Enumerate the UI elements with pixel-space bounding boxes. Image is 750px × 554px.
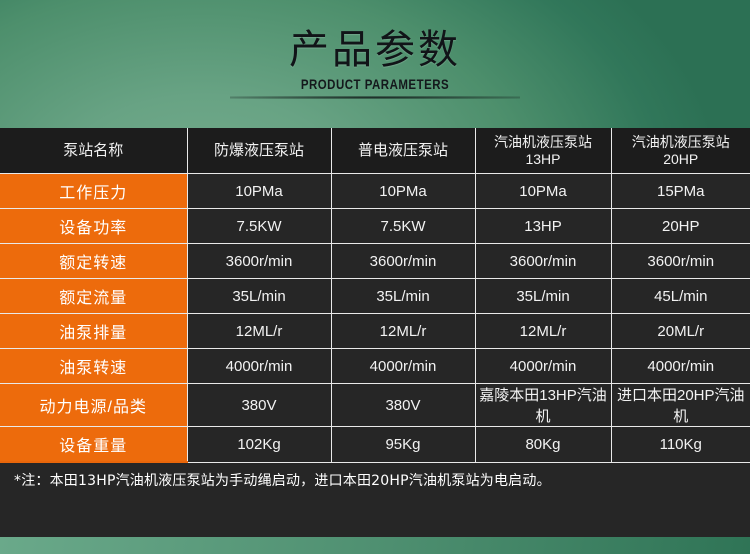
table-row: 设备重量 102Kg 95Kg 80Kg 110Kg [0,427,750,463]
cell-pump-speed-explosion-proof: 4000r/min [187,349,331,384]
cell-rated-flow-gasoline-20hp: 45L/min [611,279,750,314]
table-row: 油泵排量 12ML/r 12ML/r 12ML/r 20ML/r [0,314,750,349]
cell-equipment-weight-explosion-proof: 102Kg [187,427,331,463]
cell-power-source-gasoline-20hp: 进口本田20HP汽油机 [611,384,750,427]
page-title: 产品参数 [0,28,750,72]
cell-equipment-power-explosion-proof: 7.5KW [187,209,331,244]
product-parameters-page: 产品参数 PRODUCT PARAMETERS 泵站名称 防爆液压泵站 普电液压… [0,0,750,554]
title-underline-divider [230,96,520,99]
row-label-working-pressure: 工作压力 [0,174,187,209]
cell-rated-speed-explosion-proof: 3600r/min [187,244,331,279]
cell-equipment-weight-standard-electric: 95Kg [331,427,475,463]
column-header-gasoline-20hp-line2: 20HP [612,151,750,168]
row-label-pump-displacement: 油泵排量 [0,314,187,349]
header-banner-content: 产品参数 PRODUCT PARAMETERS [0,28,750,99]
cell-equipment-power-gasoline-20hp: 20HP [611,209,750,244]
cell-rated-flow-gasoline-13hp: 35L/min [475,279,611,314]
cell-working-pressure-gasoline-20hp: 15PMa [611,174,750,209]
page-subtitle: PRODUCT PARAMETERS [68,76,683,93]
table-header-row: 泵站名称 防爆液压泵站 普电液压泵站 汽油机液压泵站 13HP 汽油机液压泵站 … [0,128,750,174]
cell-equipment-power-standard-electric: 7.5KW [331,209,475,244]
cell-pump-speed-standard-electric: 4000r/min [331,349,475,384]
column-header-name: 泵站名称 [0,128,187,174]
cell-working-pressure-explosion-proof: 10PMa [187,174,331,209]
table-row: 额定转速 3600r/min 3600r/min 3600r/min 3600r… [0,244,750,279]
cell-pump-speed-gasoline-20hp: 4000r/min [611,349,750,384]
cell-power-source-gasoline-13hp: 嘉陵本田13HP汽油机 [475,384,611,427]
column-header-gasoline-13hp: 汽油机液压泵站 13HP [475,128,611,174]
table-row: 工作压力 10PMa 10PMa 10PMa 15PMa [0,174,750,209]
row-label-equipment-weight: 设备重量 [0,427,187,463]
column-header-standard-electric: 普电液压泵站 [331,128,475,174]
cell-pump-displacement-gasoline-20hp: 20ML/r [611,314,750,349]
cell-equipment-weight-gasoline-13hp: 80Kg [475,427,611,463]
cell-pump-displacement-gasoline-13hp: 12ML/r [475,314,611,349]
column-header-gasoline-20hp-line1: 汽油机液压泵站 [612,134,750,151]
cell-working-pressure-gasoline-13hp: 10PMa [475,174,611,209]
footnote: *注：本田13HP汽油机液压泵站为手动绳启动，进口本田20HP汽油机泵站为电启动… [0,461,750,491]
bottom-green-strip [0,537,750,554]
cell-working-pressure-standard-electric: 10PMa [331,174,475,209]
cell-pump-displacement-explosion-proof: 12ML/r [187,314,331,349]
row-label-rated-flow: 额定流量 [0,279,187,314]
cell-pump-speed-gasoline-13hp: 4000r/min [475,349,611,384]
table-row: 油泵转速 4000r/min 4000r/min 4000r/min 4000r… [0,349,750,384]
row-label-power-source: 动力电源/品类 [0,384,187,427]
column-header-gasoline-13hp-line2: 13HP [476,151,611,168]
cell-equipment-power-gasoline-13hp: 13HP [475,209,611,244]
table-row: 动力电源/品类 380V 380V 嘉陵本田13HP汽油机 进口本田20HP汽油… [0,384,750,427]
cell-power-source-explosion-proof: 380V [187,384,331,427]
table-row: 设备功率 7.5KW 7.5KW 13HP 20HP [0,209,750,244]
row-label-pump-speed: 油泵转速 [0,349,187,384]
column-header-explosion-proof: 防爆液压泵站 [187,128,331,174]
header-banner: 产品参数 PRODUCT PARAMETERS [0,0,750,128]
cell-rated-speed-standard-electric: 3600r/min [331,244,475,279]
row-label-equipment-power: 设备功率 [0,209,187,244]
cell-rated-speed-gasoline-13hp: 3600r/min [475,244,611,279]
cell-rated-flow-explosion-proof: 35L/min [187,279,331,314]
cell-equipment-weight-gasoline-20hp: 110Kg [611,427,750,463]
cell-rated-speed-gasoline-20hp: 3600r/min [611,244,750,279]
cell-pump-displacement-standard-electric: 12ML/r [331,314,475,349]
column-header-gasoline-20hp: 汽油机液压泵站 20HP [611,128,750,174]
cell-rated-flow-standard-electric: 35L/min [331,279,475,314]
specifications-table: 泵站名称 防爆液压泵站 普电液压泵站 汽油机液压泵站 13HP 汽油机液压泵站 … [0,128,750,463]
column-header-gasoline-13hp-line1: 汽油机液压泵站 [476,134,611,151]
cell-power-source-standard-electric: 380V [331,384,475,427]
row-label-rated-speed: 额定转速 [0,244,187,279]
table-row: 额定流量 35L/min 35L/min 35L/min 45L/min [0,279,750,314]
